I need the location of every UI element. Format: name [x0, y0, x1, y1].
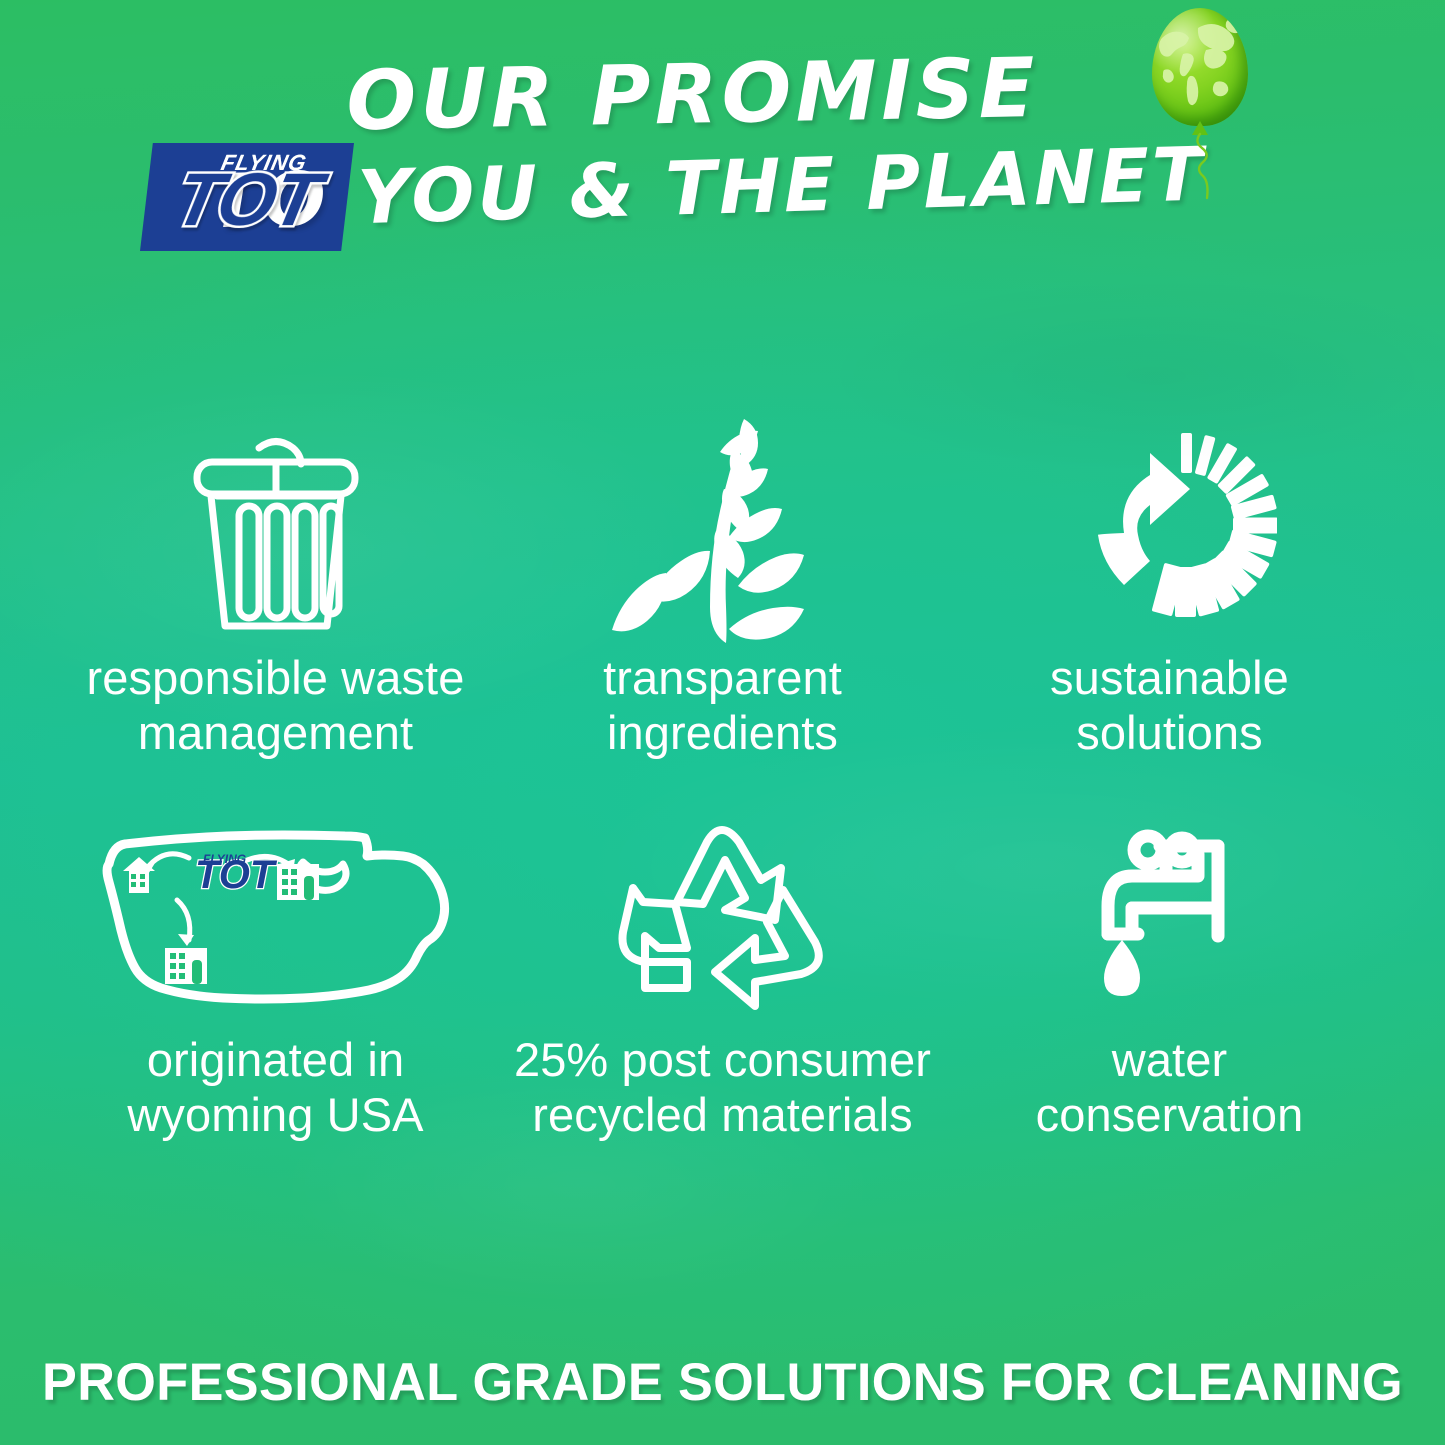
feature-label: originated in wyoming USA [127, 1032, 423, 1143]
globe-balloon [1152, 8, 1262, 198]
water-drop [1104, 940, 1140, 996]
plant-sprig-icon [499, 400, 946, 650]
feature-grid: responsible waste management [0, 400, 1445, 1200]
feature-label: water conservation [1036, 1032, 1304, 1143]
feature-label: sustainable solutions [1050, 650, 1289, 761]
feature-label: responsible waste management [87, 650, 465, 761]
feature-label-line-2: management [138, 706, 413, 759]
feature-label: transparent ingredients [603, 650, 842, 761]
usa-map-icon: TOT FLYING [52, 800, 499, 1032]
feature-label-line-1: water [1112, 1033, 1227, 1086]
logo-flying-text: FLYING [219, 150, 310, 176]
recycle-icon [499, 800, 946, 1032]
feature-label-line-1: originated in [147, 1033, 404, 1086]
promise-poster: TOT FLYING OUR PROMISE TO YOU & THE PLAN… [0, 0, 1445, 1445]
feature-cell-sustainable-solutions: sustainable solutions [946, 400, 1393, 800]
feature-cell-responsible-waste: responsible waste management [52, 400, 499, 800]
feature-label-line-1: transparent [603, 651, 842, 704]
feature-label-line-1: responsible waste [87, 651, 465, 704]
feature-label-line-1: 25% post consumer [514, 1033, 931, 1086]
feature-label: 25% post consumer recycled materials [514, 1032, 931, 1143]
feature-label-line-2: solutions [1076, 706, 1262, 759]
balloon-body [1152, 8, 1248, 126]
faucet-drop-icon [946, 800, 1393, 1032]
feature-cell-water-conservation: water conservation [946, 800, 1393, 1200]
trash-can-icon [52, 400, 499, 650]
feature-label-line-2: conservation [1036, 1088, 1304, 1141]
balloon-globe-map [1152, 8, 1248, 126]
feature-label-line-1: sustainable [1050, 651, 1289, 704]
feature-cell-recycled-materials: 25% post consumer recycled materials [499, 800, 946, 1200]
feature-label-line-2: ingredients [607, 706, 838, 759]
footer-tagline: PROFESSIONAL GRADE SOLUTIONS FOR CLEANIN… [11, 1352, 1434, 1413]
feature-label-line-2: recycled materials [532, 1088, 913, 1141]
feature-cell-transparent-ingredients: transparent ingredients [499, 400, 946, 800]
map-center-logo-flying: FLYING [203, 852, 246, 866]
feature-cell-originated-wyoming: TOT FLYING originated in wyoming USA [52, 800, 499, 1200]
circular-arrow-icon [946, 400, 1393, 650]
feature-label-line-2: wyoming USA [127, 1088, 423, 1141]
balloon-string [1182, 128, 1242, 200]
